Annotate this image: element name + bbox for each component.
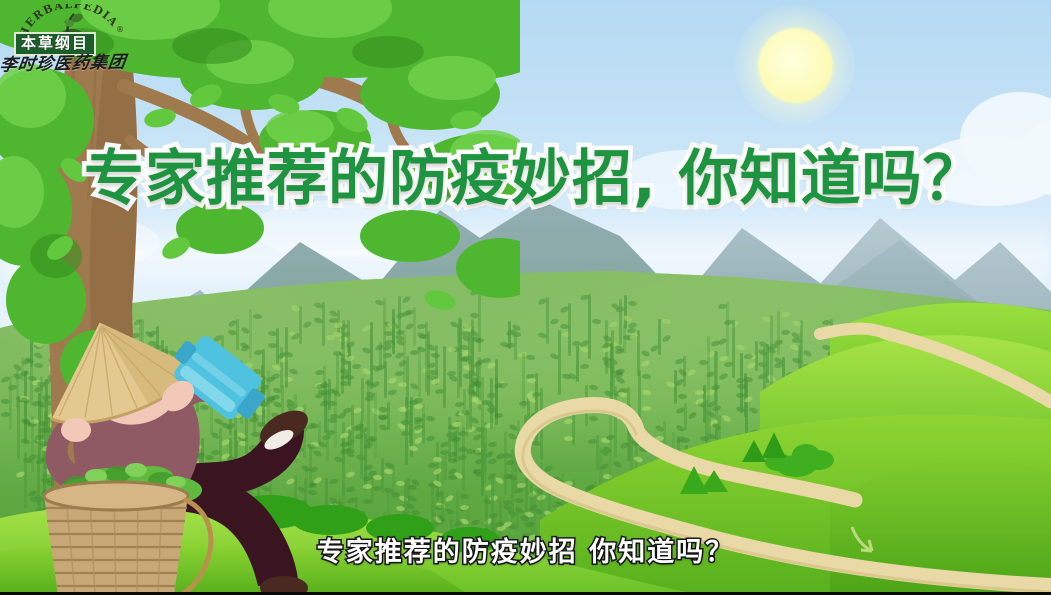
logo-name-label: 本草纲目 — [21, 35, 89, 52]
page-title: 专家推荐的防疫妙招, 你知道吗？ — [84, 143, 984, 215]
logo-company-signature: 李时珍医药集团 — [0, 52, 128, 75]
herbalpedia-logo[interactable]: HERBALPEDIA ® 本草纲目 李时珍医药集团 — [2, 2, 142, 80]
herb-basket — [44, 463, 211, 595]
logo-name-box: 本草纲目 — [14, 32, 96, 56]
subtitle-caption: 专家推荐的防疫妙招 你知道吗？ — [0, 536, 1051, 570]
video-frame: HERBALPEDIA ® 本草纲目 李时珍医药集团 专家推荐的防疫妙招, 你知… — [0, 0, 1051, 595]
registered-mark: ® — [116, 25, 124, 34]
